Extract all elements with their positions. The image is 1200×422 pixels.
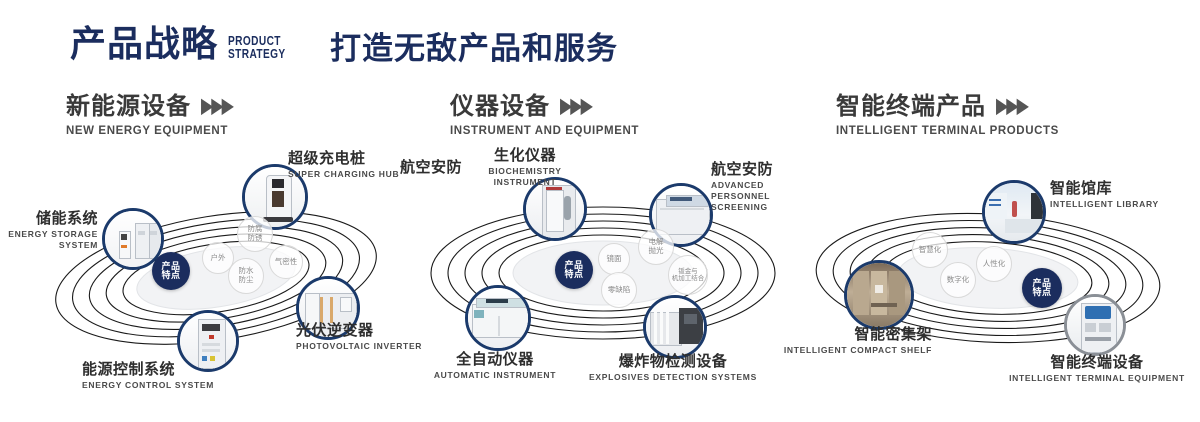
badge-line2: 特点 [564, 270, 583, 279]
chevron-right-icon: ▶▶▶ [996, 95, 1027, 119]
biochemistry-analyzer-icon [526, 180, 584, 238]
node-circle-intelligent-library[interactable] [982, 180, 1046, 244]
badge-line2: 特点 [1032, 288, 1051, 297]
node-label-intelligent-terminal-equipment: 智能终端设备 INTELLIGENT TERMINAL EQUIPMENT [1002, 354, 1192, 384]
node-circle-intelligent-terminal-equipment[interactable] [1064, 294, 1126, 356]
section-title-en: INSTRUMENT AND EQUIPMENT [450, 125, 639, 137]
section-title-cn: 仪器设备 [450, 94, 550, 120]
feature-bubble: 电解 抛光 [638, 229, 674, 265]
cluster-intelligent-terminal: 产品 特点 智慧化 数字化 人性化 智能馆库 INTELLIGENT LIBRA… [800, 168, 1200, 418]
section-title-cn: 智能终端产品 [836, 94, 986, 120]
feature-bubble: 零缺陷 [601, 272, 637, 308]
product-strategy-infographic: 产品战略 PRODUCT STRATEGY 打造无敌产品和服务 新能源设备 ▶▶… [0, 0, 1200, 422]
node-label-advanced-personnel-screening: 航空安防 ADVANCED PERSONNEL SCREENING [711, 161, 807, 213]
node-circle-automatic-instrument[interactable] [465, 285, 531, 351]
center-badge-product-features: 产品 特点 [1022, 268, 1062, 308]
section-title-en: INTELLIGENT TERMINAL PRODUCTS [836, 125, 1059, 137]
feature-bubble: 智慧化 [912, 232, 948, 268]
section-title-intelligent-terminal: 智能终端产品 ▶▶▶ INTELLIGENT TERMINAL PRODUCTS [836, 94, 1059, 137]
node-label-intelligent-library: 智能馆库 INTELLIGENT LIBRARY [1050, 180, 1159, 210]
automatic-instrument-icon [468, 288, 528, 348]
section-title-instrument: 仪器设备 ▶▶▶ INSTRUMENT AND EQUIPMENT [450, 94, 639, 137]
node-circle-explosives-detection[interactable] [643, 295, 707, 359]
cluster-instrument: 产品 特点 镜面 电解 抛光 零缺陷 钣金与 机加工结合 航空安防 生化仪器 B… [405, 155, 805, 405]
node-label-automatic-instrument: 全自动仪器 AUTOMATIC INSTRUMENT [415, 351, 575, 381]
chevron-right-icon: ▶▶▶ [560, 95, 591, 119]
feature-bubble: 人性化 [976, 246, 1012, 282]
section-title-new-energy: 新能源设备 ▶▶▶ NEW ENERGY EQUIPMENT [66, 94, 232, 137]
feature-bubble: 防水 防尘 [228, 258, 264, 294]
node-label-energy-storage: 储能系统 ENERGY STORAGE SYSTEM [0, 210, 98, 251]
node-label-intelligent-compact-shelf: 智能密集架 INTELLIGENT COMPACT SHELF [772, 326, 932, 356]
brand-title-cn: 产品战略 [70, 26, 218, 62]
brand-title: 产品战略 PRODUCT STRATEGY [70, 26, 302, 62]
energy-storage-cabinet-icon [105, 211, 161, 267]
feature-bubble: 防腐 防锈 [237, 216, 273, 252]
node-label-aviation-security: 航空安防 [400, 159, 462, 176]
node-label-pv-inverter: 光伏逆变器 PHOTOVOLTAIC INVERTER [296, 322, 422, 352]
page-headline: 打造无敌产品和服务 [330, 32, 618, 66]
section-title-cn: 新能源设备 [66, 94, 191, 120]
self-service-kiosk-icon [1067, 297, 1123, 353]
feature-bubble: 钣金与 机加工结合 [668, 255, 708, 295]
chevron-right-icon: ▶▶▶ [201, 95, 232, 119]
compact-shelf-icon [847, 263, 911, 327]
badge-line2: 特点 [161, 271, 180, 280]
brand-title-en-line2: STRATEGY [228, 47, 286, 60]
node-label-energy-control: 能源控制系统 ENERGY CONTROL SYSTEM [82, 361, 214, 391]
feature-bubble: 数字化 [940, 262, 976, 298]
node-circle-intelligent-compact-shelf[interactable] [844, 260, 914, 330]
node-label-biochemistry-instrument: 生化仪器 BIOCHEMISTRY INSTRUMENT [465, 147, 585, 188]
brand-title-en: PRODUCT STRATEGY [228, 34, 286, 60]
center-badge-product-features: 产品 特点 [152, 252, 190, 290]
cluster-new-energy: 产品 特点 户外 防腐 防锈 防水 防尘 气密性 储能系统 ENERGY STO… [20, 150, 420, 400]
explosive-detector-icon [646, 298, 704, 356]
node-label-super-charging-hub: 超级充电桩 SUPER CHARGING HUB [288, 150, 399, 180]
feature-bubble: 气密性 [269, 245, 303, 279]
feature-bubble: 镜面 [598, 243, 630, 275]
section-title-en: NEW ENERGY EQUIPMENT [66, 125, 232, 137]
node-label-explosives-detection: 爆炸物检测设备 EXPLOSIVES DETECTION SYSTEMS [573, 353, 773, 383]
smart-library-room-icon [985, 183, 1043, 241]
